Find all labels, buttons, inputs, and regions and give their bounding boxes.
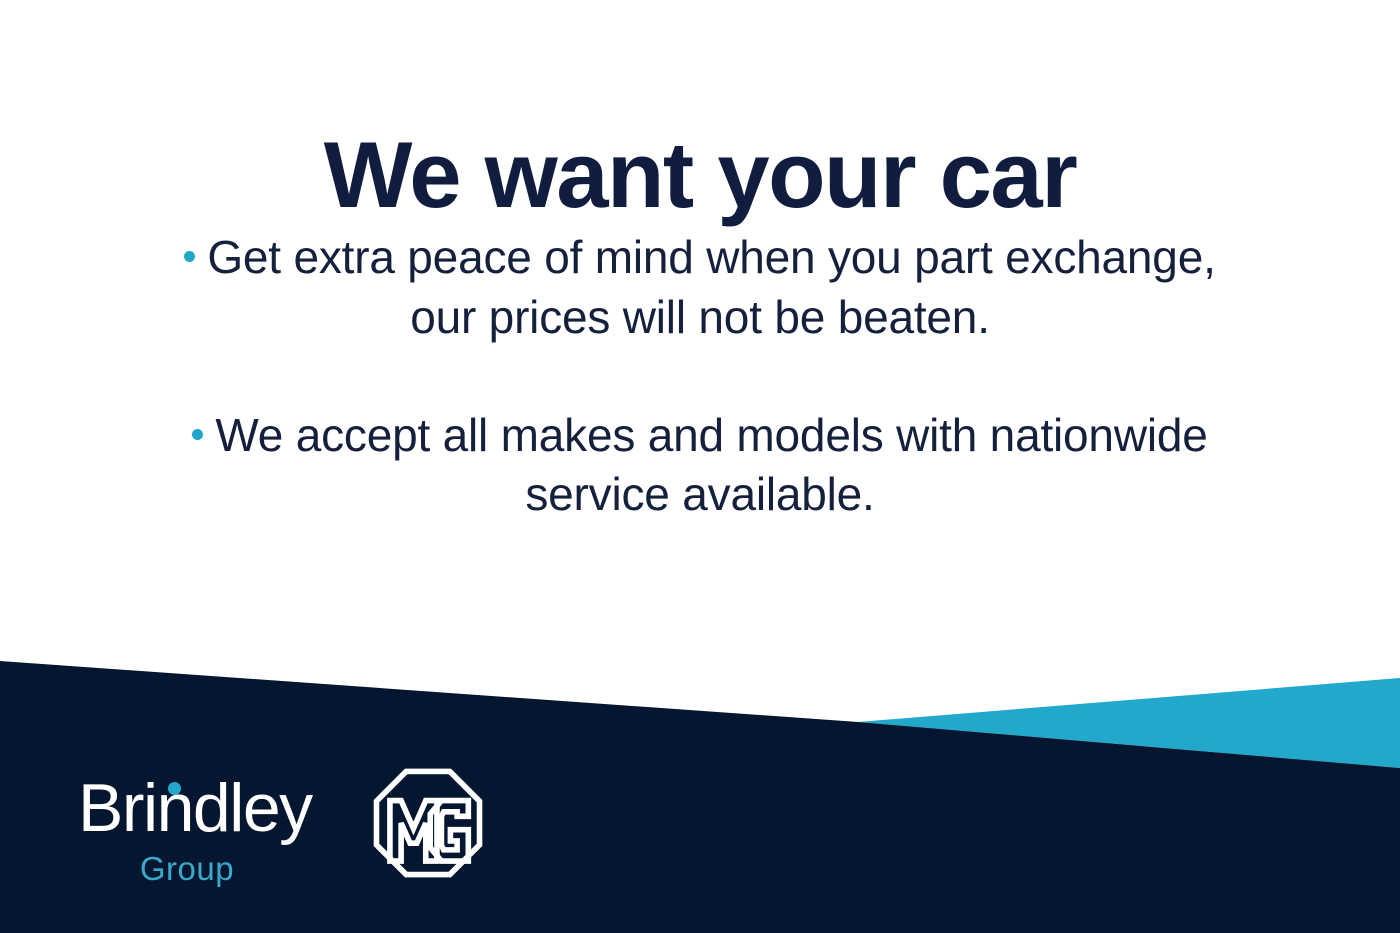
page-title: We want your car (0, 125, 1400, 225)
brindley-wordmark: Brindley (78, 774, 336, 842)
slide-canvas: We want your car Get extra peace of mind… (0, 0, 1400, 933)
list-item: We accept all makes and models with nati… (150, 406, 1250, 526)
brindley-subtitle: Group (78, 852, 336, 885)
bullet-dot-icon (184, 251, 195, 262)
bullet-list: Get extra peace of mind when you part ex… (150, 228, 1250, 525)
bullet-text: Get extra peace of mind when you part ex… (207, 231, 1215, 343)
list-item: Get extra peace of mind when you part ex… (150, 228, 1250, 348)
bullet-text: We accept all makes and models with nati… (215, 409, 1207, 521)
footer-logo-lockup: Brindley Group (78, 767, 484, 885)
brindley-wordmark-text: Brindley (78, 770, 312, 846)
mg-octagon-logo-icon (372, 767, 484, 879)
bullet-dot-icon (192, 429, 203, 440)
brindley-group-logo: Brindley Group (78, 774, 336, 885)
brindley-i-dot-icon (168, 782, 181, 795)
